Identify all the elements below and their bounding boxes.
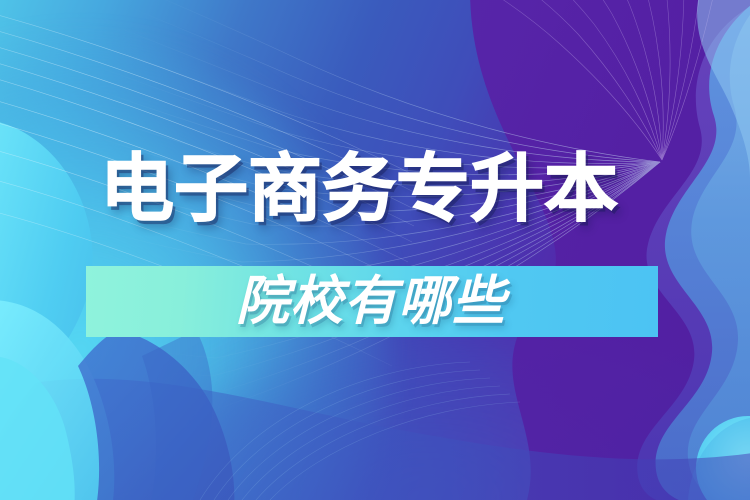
page-title: 电子商务专升本 — [100, 152, 618, 226]
decorative-artwork — [0, 0, 750, 500]
promo-banner: 电子商务专升本 院校有哪些 — [0, 0, 750, 500]
subtitle-text: 院校有哪些 — [236, 272, 506, 332]
